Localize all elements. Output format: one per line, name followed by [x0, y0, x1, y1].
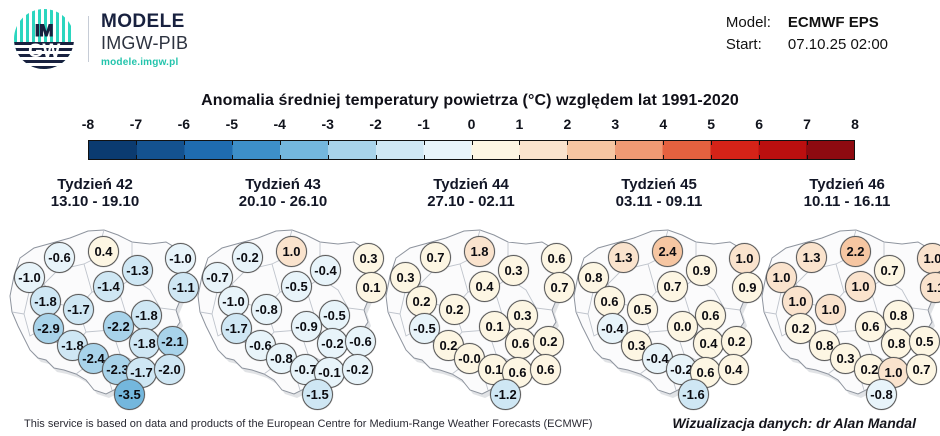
colorbar-ticks	[88, 140, 855, 160]
colorbar-tickmark	[232, 155, 233, 160]
colorbar-tickmark	[663, 140, 664, 145]
anomaly-bubble: 0.3	[507, 300, 538, 331]
colorbar-tick-labels: -8-7-6-5-4-3-2-1012345678	[88, 116, 855, 136]
anomaly-bubble: -3.5	[114, 379, 145, 410]
panel-title: Tydzień 4610.11 - 16.11	[752, 176, 940, 210]
week-panel-tydzień-44: Tydzień 4427.10 - 02.110.30.71.80.30.60.…	[376, 176, 566, 408]
colorbar-tick-7: 7	[803, 116, 811, 132]
colorbar-tickmark	[519, 155, 520, 160]
colorbar-tickmark	[615, 155, 616, 160]
panel-week-label: Tydzień 45	[564, 176, 754, 193]
anomaly-bubble: 0.4	[693, 328, 724, 359]
logo-url: modele.imgw.pl	[101, 57, 188, 68]
colorbar-tick--3: -3	[321, 116, 333, 132]
anomaly-bubble: 0.2	[439, 294, 470, 325]
colorbar-tick--1: -1	[417, 116, 429, 132]
anomaly-bubble: -2.0	[154, 354, 185, 385]
colorbar-tick--4: -4	[274, 116, 286, 132]
colorbar-tickmark	[472, 155, 473, 160]
footer-author: Wizualizacja danych: dr Alan Mandal	[672, 415, 916, 431]
week-panel-tydzień-45: Tydzień 4503.11 - 09.110.81.32.40.91.00.…	[564, 176, 754, 408]
anomaly-bubble: 0.7	[420, 242, 451, 273]
logo-title-modele: MODELE	[101, 11, 188, 33]
weather-anomaly-infographic: IM GW MODELE IMGW-PIB modele.imgw.pl Mod…	[0, 0, 940, 436]
anomaly-bubble: 1.3	[608, 242, 639, 273]
colorbar-title: Anomalia średniej temperatury powietrza …	[0, 92, 940, 110]
week-panels: Tydzień 4213.10 - 19.10-1.0-0.60.4-1.3-1…	[0, 176, 940, 408]
logo-divider	[88, 16, 89, 62]
anomaly-bubble: 0.6	[530, 354, 561, 385]
colorbar-tickmark	[759, 140, 760, 145]
panel-week-label: Tydzień 44	[376, 176, 566, 193]
poland-map: 0.81.32.40.91.00.90.70.60.50.60.0-0.40.3…	[564, 218, 754, 408]
colorbar-tick-1: 1	[516, 116, 524, 132]
colorbar-tickmark	[376, 155, 377, 160]
panel-title: Tydzień 4320.10 - 26.10	[188, 176, 378, 210]
anomaly-bubble: -1.4	[93, 271, 124, 302]
colorbar-tick--6: -6	[178, 116, 190, 132]
colorbar-tickmark	[136, 155, 137, 160]
colorbar-tickmark	[663, 155, 664, 160]
anomaly-bubble: -0.6	[345, 326, 376, 357]
logo-subtitle-imgw-pib: IMGW-PIB	[101, 33, 188, 54]
header: IM GW MODELE IMGW-PIB modele.imgw.pl Mod…	[0, 0, 940, 82]
colorbar-tick--8: -8	[82, 116, 94, 132]
logo-wordmark: MODELE IMGW-PIB modele.imgw.pl	[101, 11, 188, 68]
anomaly-bubble: -2.1	[157, 326, 188, 357]
colorbar-tick--7: -7	[130, 116, 142, 132]
anomaly-bubble: -0.4	[310, 255, 341, 286]
anomaly-bubble: 1.0	[815, 294, 846, 325]
model-row: Model: ECMWF EPS	[726, 14, 888, 36]
anomaly-bubble: -0.2	[232, 242, 263, 273]
colorbar-tickmark	[328, 155, 329, 160]
footer-attribution: This service is based on data and produc…	[24, 418, 592, 430]
start-label: Start:	[726, 36, 788, 53]
panel-week-label: Tydzień 46	[752, 176, 940, 193]
colorbar-tick--2: -2	[369, 116, 381, 132]
anomaly-bubble: -1.5	[302, 379, 333, 410]
anomaly-bubble: -0.5	[319, 300, 350, 331]
panel-date-range: 20.10 - 26.10	[188, 193, 378, 210]
poland-map: 0.30.71.80.30.60.70.40.20.20.30.1-0.50.2…	[376, 218, 566, 408]
panel-title: Tydzień 4427.10 - 02.11	[376, 176, 566, 210]
anomaly-bubble: 1.0	[917, 243, 940, 274]
colorbar-tick-8: 8	[851, 116, 859, 132]
anomaly-bubble: -0.6	[44, 242, 75, 273]
panel-date-range: 10.11 - 16.11	[752, 193, 940, 210]
colorbar-tick--5: -5	[226, 116, 238, 132]
anomaly-bubble: 0.7	[906, 354, 937, 385]
anomaly-bubble: -1.8	[131, 300, 162, 331]
anomaly-bubble: 1.0	[845, 271, 876, 302]
anomaly-bubble: 0.8	[883, 300, 914, 331]
model-metadata: Model: ECMWF EPS Start: 07.10.25 02:00	[726, 14, 888, 58]
anomaly-bubble: -0.8	[251, 294, 282, 325]
colorbar-tickmark	[519, 140, 520, 145]
panel-title: Tydzień 4503.11 - 09.11	[564, 176, 754, 210]
poland-map: -0.7-0.21.0-0.40.30.1-0.5-1.0-0.8-0.5-0.…	[188, 218, 378, 408]
week-panel-tydzień-46: Tydzień 4610.11 - 16.111.01.32.20.71.01.…	[752, 176, 940, 408]
anomaly-bubble: 0.7	[874, 255, 905, 286]
colorbar-tick-2: 2	[563, 116, 571, 132]
colorbar-tickmark	[280, 140, 281, 145]
anomaly-bubble: 1.0	[276, 236, 307, 267]
colorbar-tickmark	[567, 155, 568, 160]
anomaly-bubble: -0.5	[281, 271, 312, 302]
colorbar-tickmark	[472, 140, 473, 145]
colorbar-tick-3: 3	[611, 116, 619, 132]
colorbar-tickmark	[280, 155, 281, 160]
panel-date-range: 27.10 - 02.11	[376, 193, 566, 210]
colorbar-tickmark	[711, 155, 712, 160]
anomaly-bubble: -1.7	[63, 294, 94, 325]
colorbar-tick-4: 4	[659, 116, 667, 132]
anomaly-bubble: 0.7	[657, 271, 688, 302]
anomaly-bubble: 0.4	[718, 354, 749, 385]
colorbar-tickmark	[567, 140, 568, 145]
week-panel-tydzień-42: Tydzień 4213.10 - 19.10-1.0-0.60.4-1.3-1…	[0, 176, 190, 408]
anomaly-bubble: 0.6	[505, 328, 536, 359]
colorbar-tickmark	[759, 155, 760, 160]
panel-week-label: Tydzień 42	[0, 176, 190, 193]
anomaly-bubble: -1.3	[122, 255, 153, 286]
imgw-logo-mark: IM GW	[14, 9, 74, 69]
colorbar-tickmark	[807, 155, 808, 160]
week-panel-tydzień-43: Tydzień 4320.10 - 26.10-0.7-0.21.0-0.40.…	[188, 176, 378, 408]
colorbar-tick-6: 6	[755, 116, 763, 132]
model-value: ECMWF EPS	[788, 14, 879, 31]
colorbar-tickmark	[184, 155, 185, 160]
anomaly-bubble: 1.3	[796, 242, 827, 273]
colorbar-tickmark	[807, 140, 808, 145]
panel-date-range: 13.10 - 19.10	[0, 193, 190, 210]
colorbar-tickmark	[328, 140, 329, 145]
logo-im-text: IM	[14, 21, 74, 41]
anomaly-bubble: -1.2	[490, 379, 521, 410]
anomaly-bubble: 0.2	[533, 326, 564, 357]
colorbar-tickmark	[615, 140, 616, 145]
colorbar-tickmark	[376, 140, 377, 145]
logo-gw-text: GW	[14, 41, 74, 63]
anomaly-bubble: 0.3	[498, 255, 529, 286]
colorbar-tick-0: 0	[468, 116, 476, 132]
anomaly-bubble: 0.5	[909, 326, 940, 357]
colorbar: -8-7-6-5-4-3-2-1012345678	[88, 116, 855, 164]
anomaly-bubble: 0.2	[721, 326, 752, 357]
imgw-logo: IM GW MODELE IMGW-PIB modele.imgw.pl	[14, 9, 188, 69]
poland-map: -1.0-0.60.4-1.3-1.0-1.1-1.4-1.8-1.7-1.8-…	[0, 218, 190, 408]
anomaly-bubble: 0.4	[88, 236, 119, 267]
colorbar-tickmark	[232, 140, 233, 145]
anomaly-bubble: 0.8	[881, 328, 912, 359]
anomaly-bubble: -0.8	[866, 379, 897, 410]
colorbar-tickmark	[184, 140, 185, 145]
colorbar-tickmark	[711, 140, 712, 145]
anomaly-bubble: 2.2	[840, 236, 871, 267]
anomaly-bubble: -1.6	[678, 379, 709, 410]
anomaly-bubble: 0.5	[627, 294, 658, 325]
anomaly-bubble: 1.8	[464, 236, 495, 267]
poland-map: 1.01.32.20.71.01.11.01.01.00.80.60.20.80…	[752, 218, 940, 408]
start-value: 07.10.25 02:00	[788, 36, 888, 53]
panel-title: Tydzień 4213.10 - 19.10	[0, 176, 190, 210]
colorbar-tickmark	[424, 155, 425, 160]
anomaly-bubble: 0.9	[686, 255, 717, 286]
colorbar-tickmark	[424, 140, 425, 145]
anomaly-bubble: -1.8	[129, 328, 160, 359]
anomaly-bubble: 0.6	[695, 300, 726, 331]
colorbar-tick-5: 5	[707, 116, 715, 132]
colorbar-tickmark	[136, 140, 137, 145]
panel-week-label: Tydzień 43	[188, 176, 378, 193]
anomaly-bubble: -0.2	[317, 328, 348, 359]
model-label: Model:	[726, 14, 788, 31]
anomaly-bubble: 0.4	[469, 271, 500, 302]
anomaly-bubble: 2.4	[652, 236, 683, 267]
panel-date-range: 03.11 - 09.11	[564, 193, 754, 210]
anomaly-bubble: -0.2	[342, 354, 373, 385]
start-row: Start: 07.10.25 02:00	[726, 36, 888, 58]
